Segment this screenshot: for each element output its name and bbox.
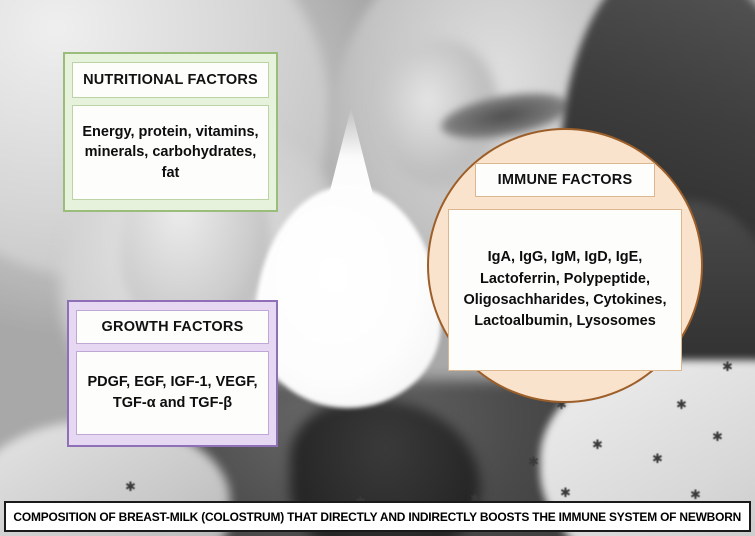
nutritional-factors-panel: NUTRITIONAL FACTORS Energy, protein, vit…: [63, 52, 278, 212]
nutritional-factors-title: NUTRITIONAL FACTORS: [72, 62, 269, 98]
growth-factors-title: GROWTH FACTORS: [76, 310, 269, 344]
star-print-icon: ✱: [592, 438, 603, 451]
immune-factors-items: IgA, IgG, IgM, IgD, IgE, Lactoferrin, Po…: [448, 209, 682, 371]
growth-factors-items: PDGF, EGF, IGF-1, VEGF, TGF-α and TGF-β: [76, 351, 269, 435]
growth-factors-panel: GROWTH FACTORS PDGF, EGF, IGF-1, VEGF, T…: [67, 300, 278, 447]
breast-milk-composition-infographic: ✱ ✱ ✱ ✱ ✱ ✱ ✱ ✱ ✱ ✱ ✱ ✱ ✱ NUTRITIONAL FA…: [0, 0, 755, 536]
star-print-icon: ✱: [125, 480, 136, 493]
caption-bar: COMPOSITION OF BREAST-MILK (COLOSTRUM) T…: [4, 501, 751, 532]
star-print-icon: ✱: [528, 455, 539, 468]
star-print-icon: ✱: [652, 452, 663, 465]
immune-factors-panel: IMMUNE FACTORS IgA, IgG, IgM, IgD, IgE, …: [427, 128, 703, 403]
caption-text: COMPOSITION OF BREAST-MILK (COLOSTRUM) T…: [14, 510, 742, 524]
star-print-icon: ✱: [676, 398, 687, 411]
star-print-icon: ✱: [690, 488, 701, 501]
star-print-icon: ✱: [712, 430, 723, 443]
immune-factors-title: IMMUNE FACTORS: [475, 163, 655, 197]
nutritional-factors-items: Energy, protein, vitamins, minerals, car…: [72, 105, 269, 200]
star-print-icon: ✱: [560, 486, 571, 499]
star-print-icon: ✱: [722, 360, 733, 373]
